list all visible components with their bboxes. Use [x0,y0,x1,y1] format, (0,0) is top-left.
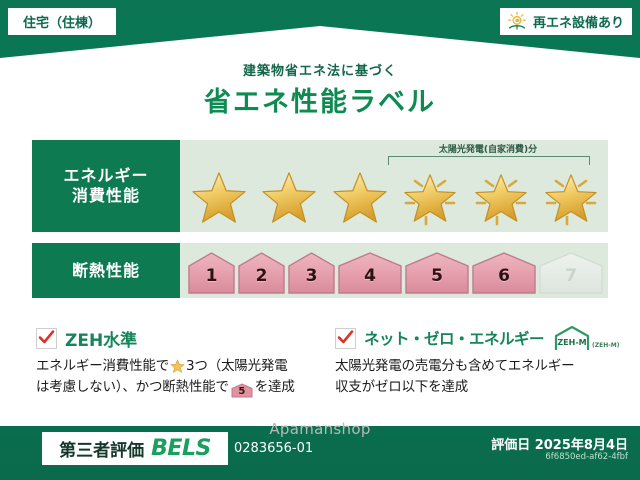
star-filled [188,168,250,228]
grade-badge: 5 [405,252,469,294]
grade-number: 5 [431,268,443,294]
grade-badge-inactive: 7 [539,252,603,294]
criterion-net-zero-text-2: 収支がゼロ以下を達成 [335,379,468,395]
grade-badge: 3 [288,252,335,294]
energy-label-card: 住宅（住棟） 再エネ設備あり 建築物省エネ法に基づく 省エネ性能ラベル [0,0,640,480]
grade-number: 4 [364,268,376,294]
insulation-performance-label: 断熱性能 [32,243,180,298]
renewable-energy-chip: 再エネ設備あり [500,8,632,35]
bels-number: 0283656-01 [234,441,313,456]
inline-grade-number: 5 [231,383,253,400]
building-type-chip: 住宅（住棟） [8,8,116,35]
energy-stars-area: 太陽光発電(自家消費)分 [180,140,608,232]
insulation-grades-area: 1 2 3 4 [180,243,608,298]
grade-badge: 2 [238,252,285,294]
sun-icon [506,11,528,33]
label-subtitle: 建築物省エネ法に基づく [0,60,640,79]
solar-bracket-label: 太陽光発電(自家消費)分 [388,142,588,155]
star-solar [540,168,602,228]
star-solar [470,168,532,228]
criterion-net-zero-body: 太陽光発電の売電分も含めてエネルギー 収支がゼロ以下を達成 [335,356,620,398]
evaluation-hash: 6f6850ed-af62-4fbf [545,452,628,462]
energy-performance-row: エネルギー 消費性能 太陽光発電(自家消費)分 [32,140,608,232]
star-rating [188,166,602,228]
criterion-zeh-title: ZEH水準 [65,326,137,351]
grade-number: 3 [306,268,318,294]
criterion-zeh-body: エネルギー消費性能で3つ（太陽光発電 は考慮しない）、かつ断熱性能で5を達成 [36,356,326,398]
grade-badge: 4 [338,252,402,294]
criterion-net-zero-text-1: 太陽光発電の売電分も含めてエネルギー [335,358,574,374]
star-solar [399,168,461,228]
star-icon [170,359,185,374]
criterion-zeh-header: ZEH水準 [36,326,326,350]
star-filled [258,168,320,228]
zeh-m-logo: ZEH-M (ZEH-M) [553,325,619,351]
solar-bracket [388,156,590,165]
bels-jp-label: 第三者評価 [59,436,144,461]
grade-number: 1 [206,268,218,294]
renewable-energy-label: 再エネ設備あり [533,12,624,31]
criterion-zeh-text-1: エネルギー消費性能で [36,358,169,374]
energy-label-line1: エネルギー [63,166,148,186]
criterion-zeh-text-3: は考慮しない）、かつ断熱性能で [36,379,229,395]
checkbox-checked-icon [36,328,57,349]
grade-number: 2 [256,268,268,294]
bels-en-label: BELS [151,436,211,461]
criterion-zeh-text-4: を達成 [255,379,295,395]
criterion-zeh: ZEH水準 エネルギー消費性能で3つ（太陽光発電 は考慮しない）、かつ断熱性能で… [36,326,326,398]
insulation-grade-scale: 1 2 3 4 [188,248,602,294]
zeh-m-caption: (ZEH-M) [592,342,619,351]
energy-label-line2: 消費性能 [72,186,140,206]
criterion-net-zero-header: ネット・ゼロ・エネルギー ZEH-M (ZEH-M) [335,326,620,350]
criterion-net-zero-title: ネット・ゼロ・エネルギー [364,327,544,349]
grade-number: 6 [498,268,510,294]
building-type-label: 住宅（住棟） [23,12,101,31]
grade-badge: 6 [472,252,536,294]
criterion-net-zero: ネット・ゼロ・エネルギー ZEH-M (ZEH-M) 太陽光発電の売電分も含めて… [335,326,620,398]
criterion-zeh-text-2: 3つ（太陽光発電 [186,358,288,374]
label-title: 省エネ性能ラベル [0,80,640,119]
grade-number: 7 [565,268,577,294]
insulation-performance-row: 断熱性能 1 [32,243,608,298]
watermark: Apamanshop [0,420,640,438]
energy-performance-label: エネルギー 消費性能 [32,140,180,232]
star-filled [329,168,391,228]
svg-text:ZEH-M: ZEH-M [557,338,586,347]
insulation-label-text: 断熱性能 [72,261,140,281]
inline-grade-badge: 5 [231,383,253,398]
grade-badge: 1 [188,252,235,294]
checkbox-checked-icon [335,328,356,349]
